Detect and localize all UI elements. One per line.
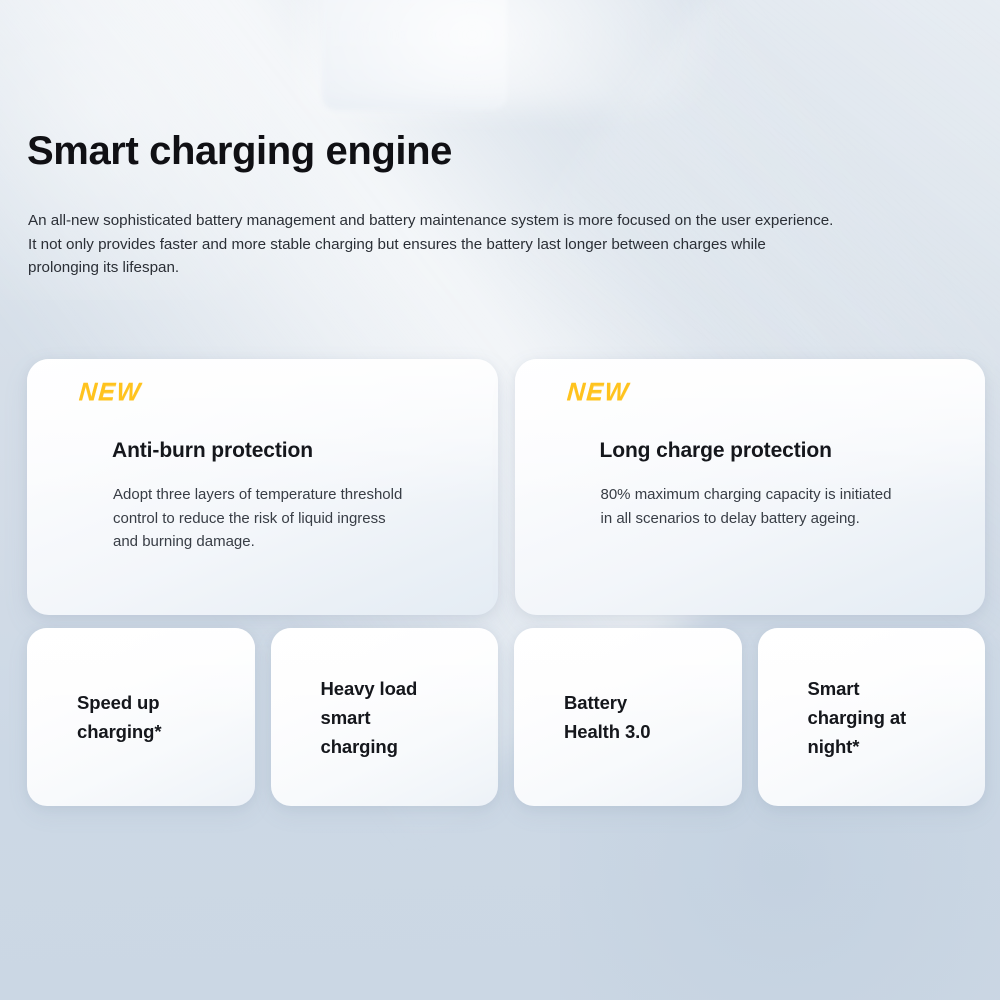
feature-cards-row: NEW Anti-burn protection Adopt three lay… bbox=[27, 359, 985, 615]
small-card-battery-health[interactable]: Battery Health 3.0 bbox=[514, 628, 742, 806]
feature-card-anti-burn-protection[interactable]: NEW Anti-burn protection Adopt three lay… bbox=[27, 359, 498, 615]
page-title: Smart charging engine bbox=[27, 128, 452, 174]
page-content: Smart charging engine An all-new sophist… bbox=[0, 0, 1000, 1000]
feature-card-body: 80% maximum charging capacity is initiat… bbox=[601, 483, 901, 530]
small-card-label: Battery Health 3.0 bbox=[514, 688, 664, 746]
new-badge: NEW bbox=[565, 378, 630, 407]
small-card-label: Smart charging at night* bbox=[758, 674, 921, 761]
small-card-heavy-load-smart-charging[interactable]: Heavy load smart charging bbox=[271, 628, 499, 806]
small-card-smart-charging-at-night[interactable]: Smart charging at night* bbox=[758, 628, 986, 806]
feature-card-body: Adopt three layers of temperature thresh… bbox=[113, 483, 413, 554]
feature-card-long-charge-protection[interactable]: NEW Long charge protection 80% maximum c… bbox=[515, 359, 986, 615]
small-card-speed-up-charging[interactable]: Speed up charging* bbox=[27, 628, 255, 806]
small-card-label: Speed up charging* bbox=[27, 688, 175, 746]
small-card-label: Heavy load smart charging bbox=[271, 674, 432, 761]
feature-card-heading: Anti-burn protection bbox=[112, 439, 313, 463]
new-badge: NEW bbox=[78, 378, 143, 407]
page-subtitle: An all-new sophisticated battery managem… bbox=[28, 209, 840, 280]
feature-card-heading: Long charge protection bbox=[600, 439, 832, 463]
small-cards-row: Speed up charging* Heavy load smart char… bbox=[27, 628, 985, 806]
